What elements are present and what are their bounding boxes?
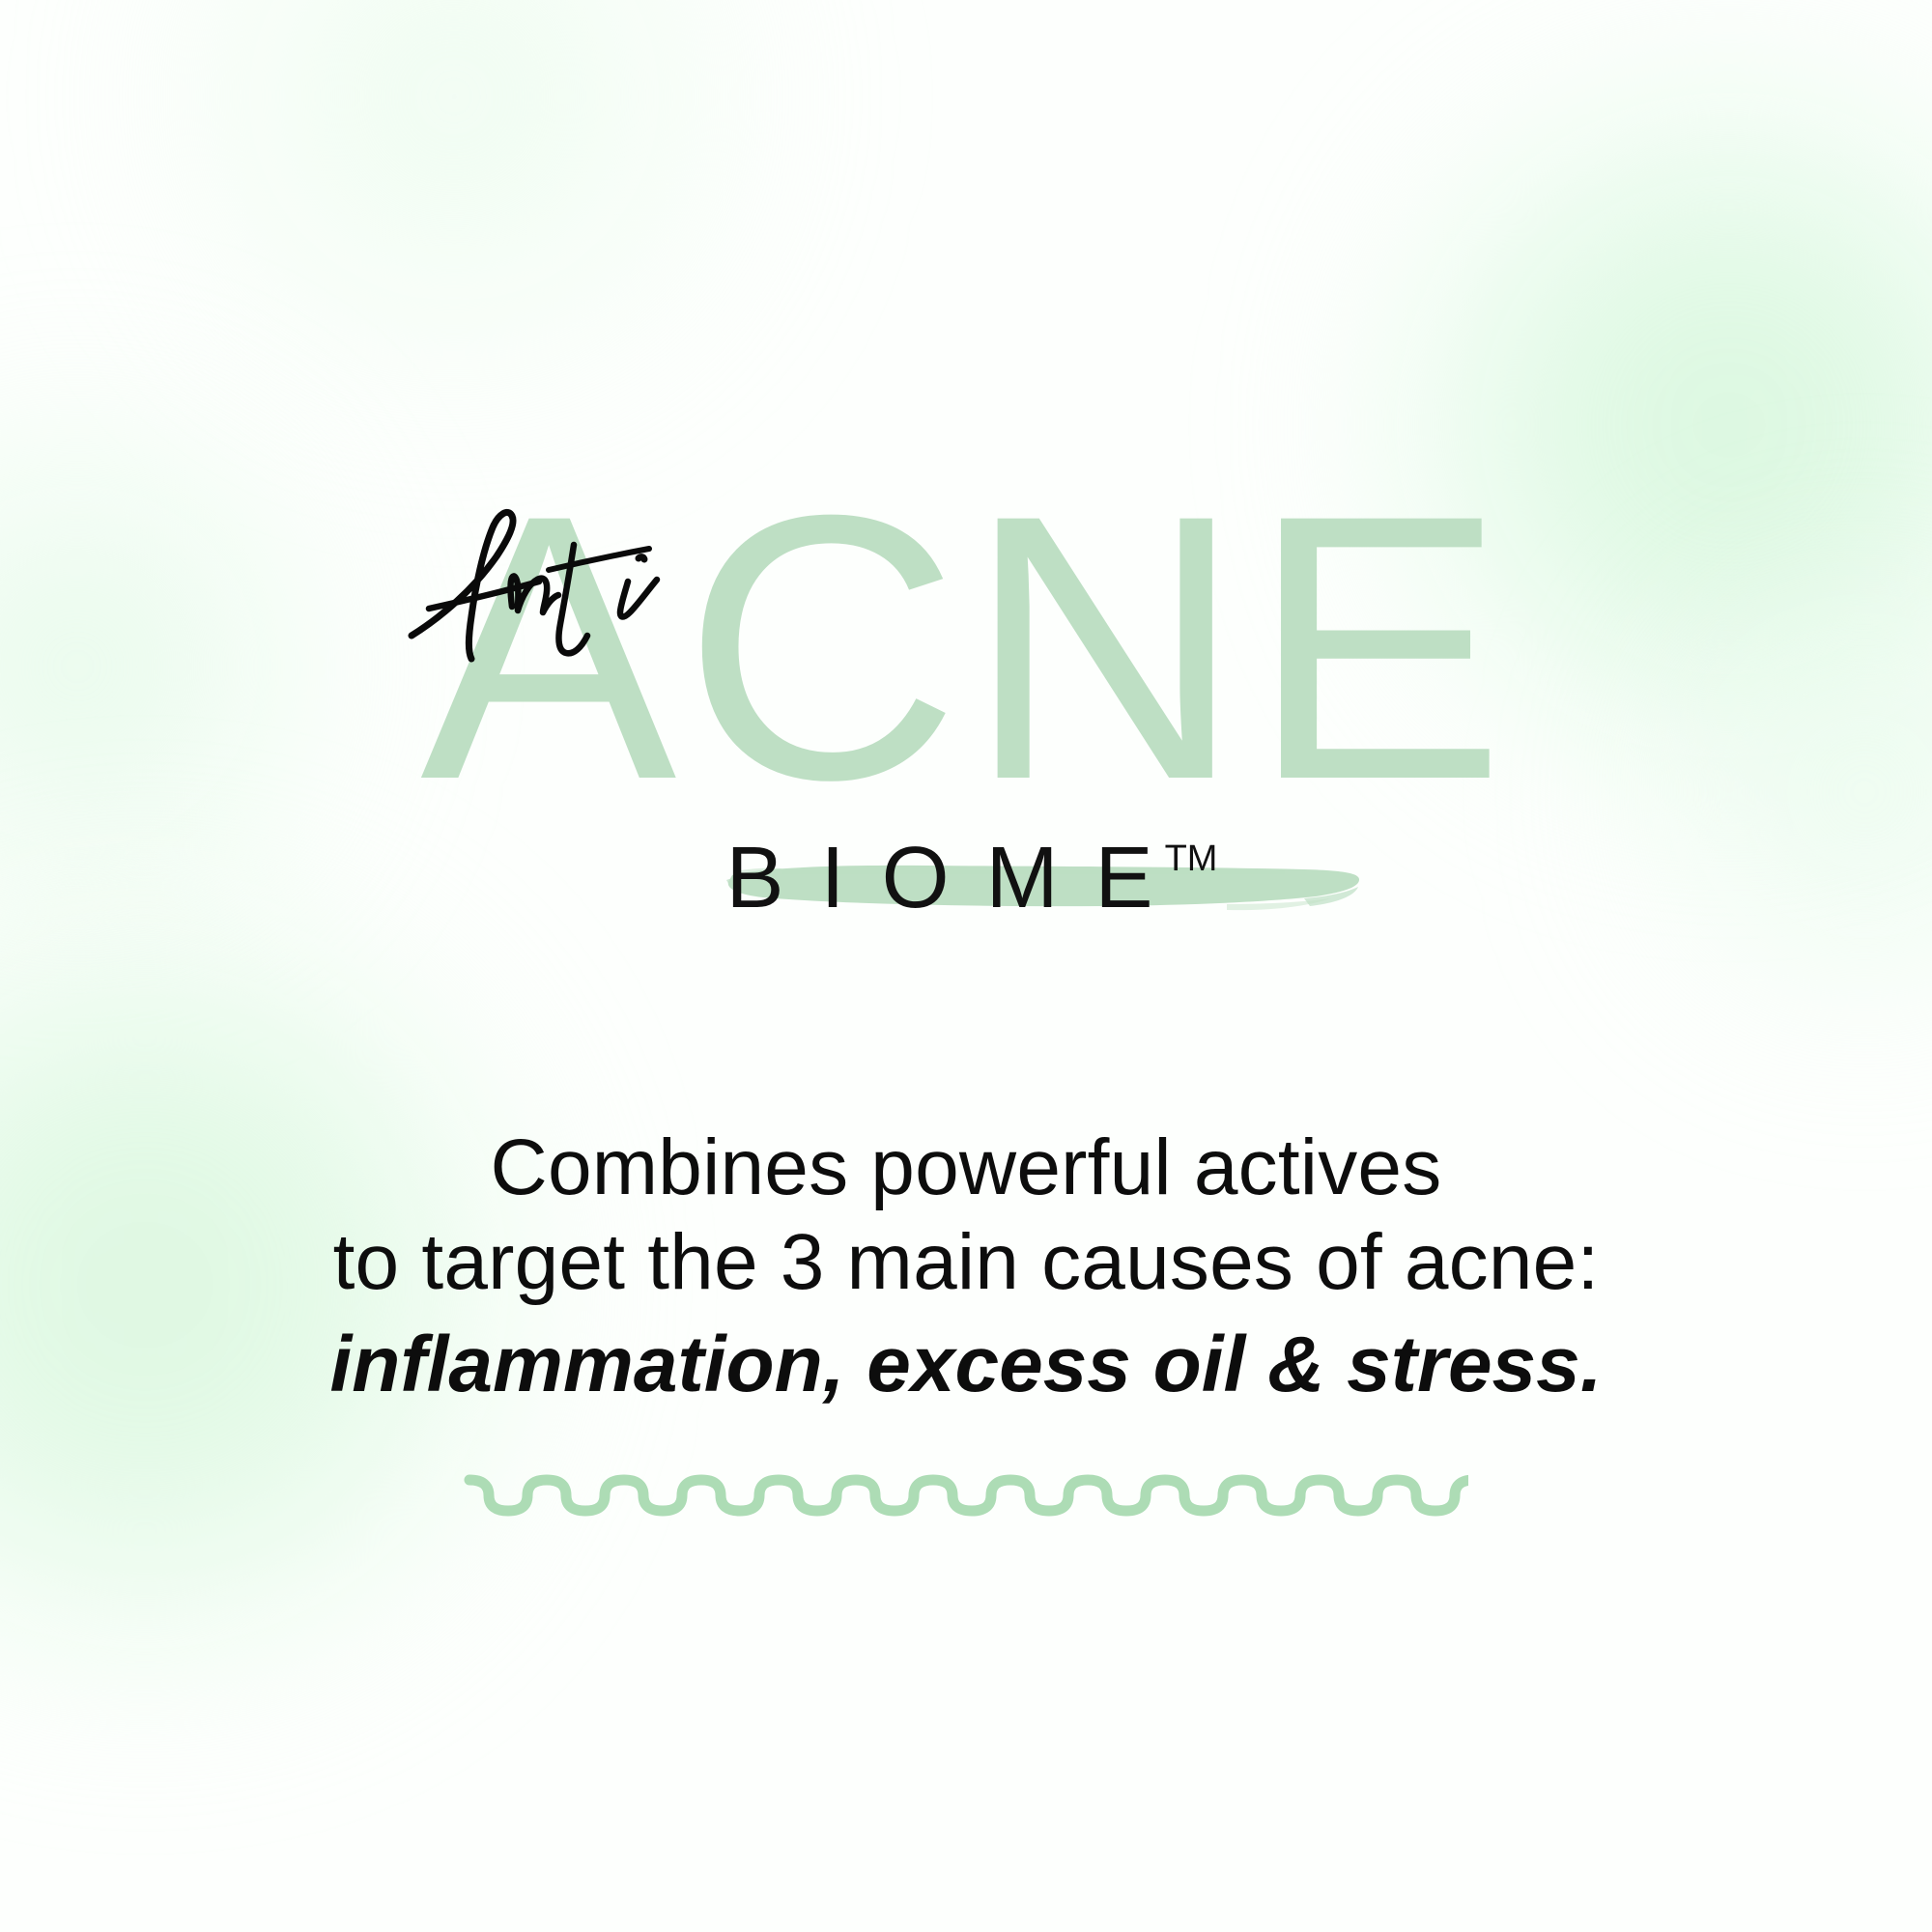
trademark-icon: TM	[1165, 838, 1218, 880]
brand-wordmark-acne: ACNE	[0, 464, 1932, 831]
brand-subwordmark-wrap: BIOMETM	[0, 819, 1932, 937]
description-block: Combines powerful actives to target the …	[0, 1121, 1932, 1412]
description-line-1: Combines powerful actives	[0, 1121, 1932, 1215]
background-blob-top-left	[116, 0, 792, 406]
description-line-2: to target the 3 main causes of acne:	[0, 1215, 1932, 1310]
wavy-underline-decoration	[464, 1455, 1468, 1517]
brand-script-anti	[404, 489, 694, 672]
brand-subwordmark-biome: BIOME	[690, 819, 1190, 937]
poster-canvas: ACNE	[0, 0, 1932, 1932]
description-line-3-emphasis: inflammation, excess oil & stress.	[0, 1318, 1932, 1412]
brand-subwordmark-row: BIOMETM	[0, 819, 1932, 964]
logo-lockup: ACNE	[0, 464, 1932, 985]
